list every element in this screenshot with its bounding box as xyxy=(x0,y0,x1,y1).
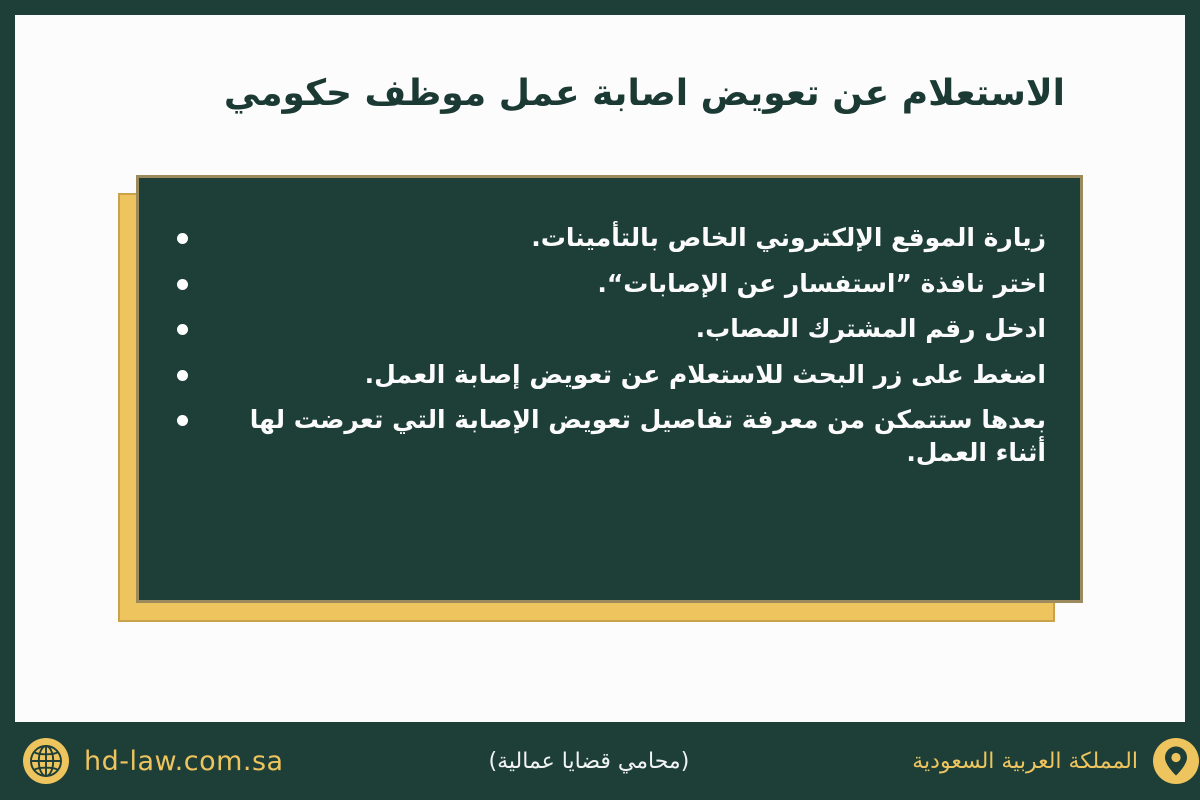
bullet-dot-icon xyxy=(177,233,188,244)
bullet-dot-icon xyxy=(177,370,188,381)
list-item: زيارة الموقع الإلكتروني الخاص بالتأمينات… xyxy=(173,222,1046,255)
content-card-area: زيارة الموقع الإلكتروني الخاص بالتأمينات… xyxy=(118,175,1098,645)
site-url-text: hd-law.com.sa xyxy=(84,746,284,777)
poster: الاستعلام عن تعويض اصابة عمل موظف حكومي … xyxy=(0,0,1200,800)
list-item-text: ادخل رقم المشترك المصاب. xyxy=(696,314,1046,343)
list-item: اختر نافذة ”استفسار عن الإصابات“. xyxy=(173,268,1046,301)
list-item-text: بعدها ستتمكن من معرفة تفاصيل تعويض الإصا… xyxy=(250,405,1046,467)
footer-bar: hd-law.com.sa (محامي قضايا عمالية) الممل… xyxy=(0,722,1200,800)
poster-canvas: الاستعلام عن تعويض اصابة عمل موظف حكومي … xyxy=(15,15,1185,722)
page-title-wrap: الاستعلام عن تعويض اصابة عمل موظف حكومي xyxy=(15,70,1065,119)
list-item-text: اضغط على زر البحث للاستعلام عن تعويض إصا… xyxy=(365,360,1046,389)
steps-list: زيارة الموقع الإلكتروني الخاص بالتأمينات… xyxy=(139,178,1080,469)
bullet-dot-icon xyxy=(177,324,188,335)
footer-location: المملكة العربية السعودية xyxy=(894,737,1200,785)
bullet-dot-icon xyxy=(177,415,188,426)
location-pin-icon xyxy=(1152,737,1200,785)
globe-icon xyxy=(22,737,70,785)
list-item: ادخل رقم المشترك المصاب. xyxy=(173,313,1046,346)
footer-tagline: (محامي قضايا عمالية) xyxy=(284,749,895,774)
page-title: الاستعلام عن تعويض اصابة عمل موظف حكومي xyxy=(15,70,1065,119)
list-item-text: اختر نافذة ”استفسار عن الإصابات“. xyxy=(597,269,1046,298)
bullet-dot-icon xyxy=(177,279,188,290)
country-text: المملكة العربية السعودية xyxy=(912,749,1138,774)
list-item: بعدها ستتمكن من معرفة تفاصيل تعويض الإصا… xyxy=(173,404,1046,469)
list-item: اضغط على زر البحث للاستعلام عن تعويض إصا… xyxy=(173,359,1046,392)
content-card: زيارة الموقع الإلكتروني الخاص بالتأمينات… xyxy=(136,175,1083,603)
list-item-text: زيارة الموقع الإلكتروني الخاص بالتأمينات… xyxy=(531,223,1046,252)
footer-brand[interactable]: hd-law.com.sa xyxy=(0,737,284,785)
